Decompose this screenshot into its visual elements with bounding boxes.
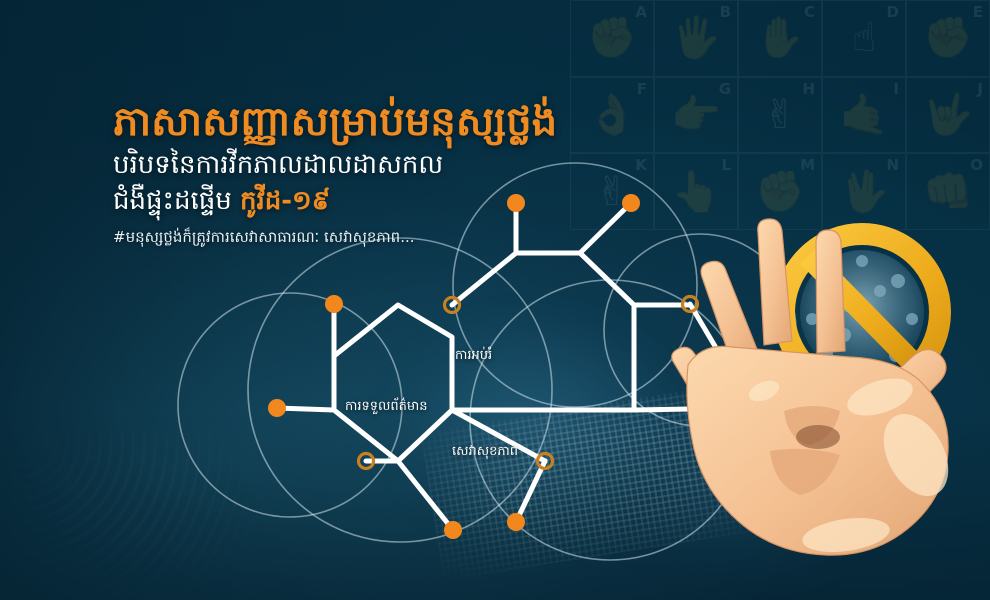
sign-language-covid-banner: ✊A 🖐B ✋C ☝D ✊E 👌F 👉G ✌H 🤙I 🤟J ✌K 👆L ✊M 🖖… [0,0,990,600]
node-dot [507,513,525,531]
network-nodes-ring [359,297,698,469]
subtitle-line-2: ជំងឺផ្ទុះដផ្ទើម កូវីដ-១៩ [113,185,673,219]
hashtag-line: #មនុស្សថ្លង់ក៏ត្រូវការសេវាសាធារណៈ សេវាសុ… [113,228,673,248]
node-dot [268,399,286,417]
node-dot [325,295,343,313]
headline-block: ភាសាសញ្ញាសម្រាប់មនុស្សថ្លង់ បរិបទនៃការវី… [113,100,673,248]
subtitle-line-2-prefix: ជំងឺផ្ទុះដផ្ទើម [113,186,240,216]
edge-bottom-mid [452,410,545,461]
page-title: ភាសាសញ្ញាសម្រាប់មនុស្សថ្លង់ [113,100,673,145]
edge-to-node-bl [398,461,453,530]
subtitle-line-1: បរិបទនៃការវីកភាលដាលដាសកល [113,149,673,182]
node-dot [444,521,462,539]
hexagon-left [334,305,452,461]
edge-to-node-bm [516,461,545,522]
covid-label: កូវីដ-១៩ [240,186,330,216]
hand-prohibition-artwork [666,215,990,600]
